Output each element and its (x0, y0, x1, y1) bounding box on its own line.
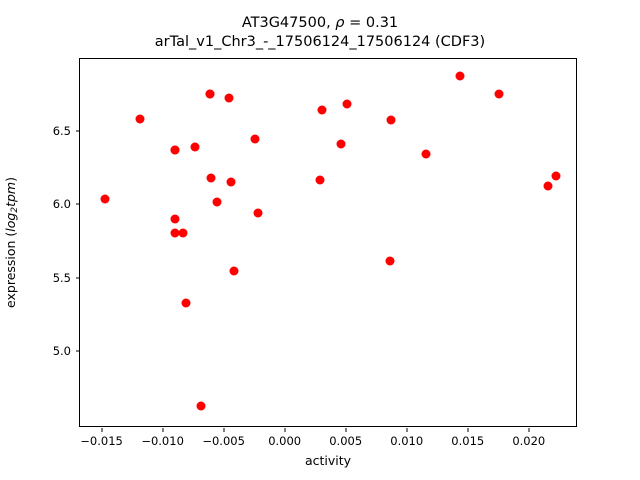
data-point (205, 90, 214, 99)
data-point (386, 256, 395, 265)
scatter-plot-figure: AT3G47500, ρ = 0.31 arTal_v1_Chr3_-_1750… (0, 0, 640, 480)
x-axis-tick-mark (467, 428, 468, 432)
data-point (455, 72, 464, 81)
x-axis-tick-label: 0.015 (451, 434, 484, 448)
x-axis-tick-label: 0.010 (390, 434, 423, 448)
data-point (178, 229, 187, 238)
y-axis-label-suffix: ) (3, 177, 18, 182)
x-axis-tick-mark (101, 428, 102, 432)
x-axis-tick-mark (345, 428, 346, 432)
title-separator: , (326, 15, 335, 31)
data-point (224, 94, 233, 103)
plot-data-area (80, 59, 576, 426)
x-axis-tick-mark (406, 428, 407, 432)
data-point (387, 116, 396, 125)
y-axis-tick-mark (76, 204, 80, 205)
data-point (227, 177, 236, 186)
y-axis-label-tpm: tpm (3, 182, 18, 207)
y-axis-tick-label: 6.0 (53, 197, 71, 211)
y-axis-label-log: log (3, 213, 18, 232)
data-point (171, 214, 180, 223)
x-axis-label: activity (79, 453, 577, 468)
data-point (101, 195, 110, 204)
x-axis-tick-mark (162, 428, 163, 432)
x-axis-tick-label: −0.015 (80, 434, 123, 448)
x-axis-tick-label: 0.000 (268, 434, 301, 448)
y-axis-tick-mark (76, 131, 80, 132)
data-point (213, 198, 222, 207)
data-point (181, 299, 190, 308)
data-point (342, 100, 351, 109)
data-point (206, 173, 215, 182)
x-axis-tick-label: −0.010 (141, 434, 184, 448)
chart-title-line-2: arTal_v1_Chr3_-_17506124_17506124 (CDF3) (0, 33, 640, 52)
plot-axes-frame (79, 58, 577, 427)
x-axis-tick-mark (223, 428, 224, 432)
x-axis-tick-mark (528, 428, 529, 432)
data-point (544, 182, 553, 191)
data-point (552, 172, 561, 181)
data-point (494, 90, 503, 99)
x-axis-tick-label: 0.020 (512, 434, 545, 448)
title-rho-value: 0.31 (366, 15, 398, 31)
chart-title-line-1: AT3G47500, ρ = 0.31 (0, 14, 640, 33)
y-axis-tick-mark (76, 350, 80, 351)
y-axis-tick-mark (76, 277, 80, 278)
y-axis-label-log-base: 2 (9, 207, 19, 213)
title-gene-id: AT3G47500 (242, 15, 326, 31)
y-axis-tick-label: 6.5 (53, 124, 71, 138)
data-point (229, 267, 238, 276)
data-point (190, 142, 199, 151)
data-point (337, 139, 346, 148)
y-axis-tick-label: 5.5 (53, 271, 71, 285)
data-point (422, 150, 431, 159)
x-axis-tick-mark (284, 428, 285, 432)
data-point (251, 135, 260, 144)
y-axis-tick-label: 5.0 (53, 344, 71, 358)
data-point (254, 208, 263, 217)
x-axis-tick-label: 0.005 (329, 434, 362, 448)
data-point (171, 145, 180, 154)
data-point (136, 114, 145, 123)
title-rho-symbol: ρ (335, 15, 344, 31)
x-axis-tick-label: −0.005 (202, 434, 245, 448)
y-axis-label-prefix: expression ( (3, 232, 18, 308)
data-point (318, 106, 327, 115)
chart-title: AT3G47500, ρ = 0.31 arTal_v1_Chr3_-_1750… (0, 14, 640, 52)
data-point (316, 176, 325, 185)
data-point (197, 401, 206, 410)
title-rho-equals: = (345, 15, 366, 31)
y-axis-label: expression (log2tpm) (0, 58, 22, 427)
